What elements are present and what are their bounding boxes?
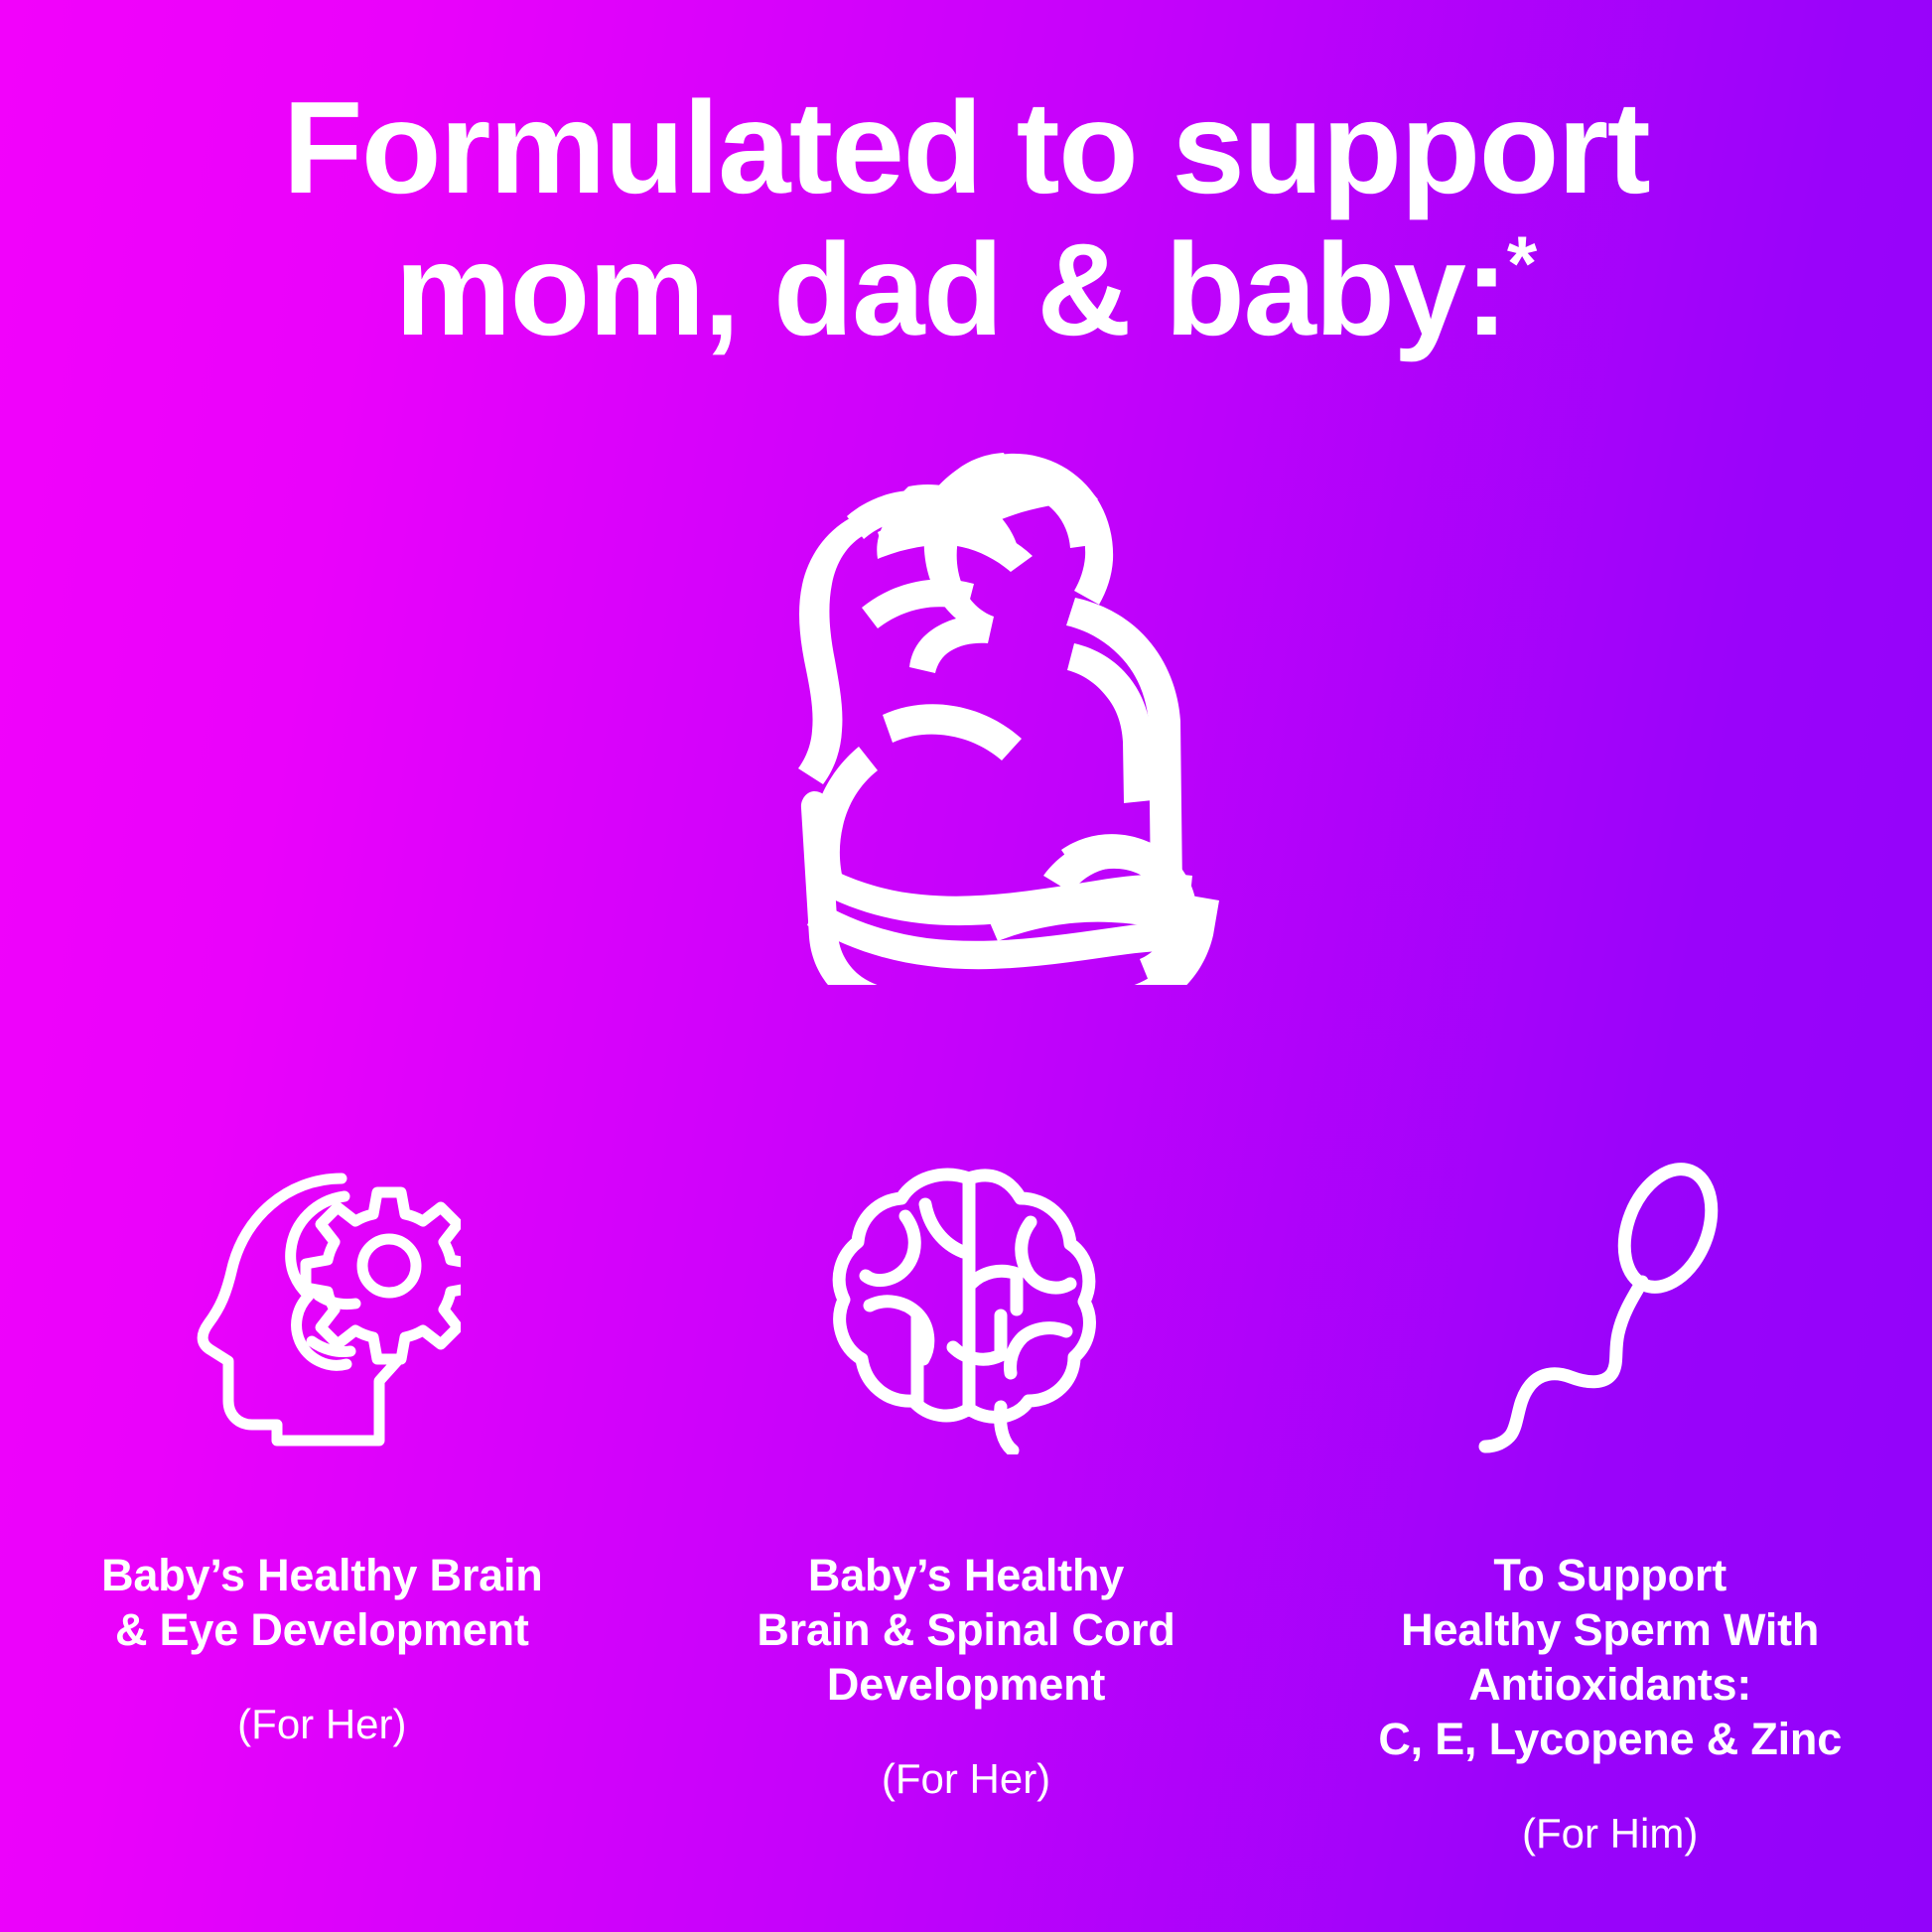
benefit-caption-2: Baby’s Healthy Brain & Spinal Cord Devel… [644,1549,1289,1859]
headline-line-1: Formulated to support [109,77,1823,219]
benefit-title-2-line-3: Development [668,1658,1265,1713]
headline-line-2: mom, dad & baby:* [109,219,1823,361]
benefit-audience-3: (For Him) [1311,1809,1908,1859]
benefit-icon-cell-2 [644,1142,1289,1469]
benefit-title-2-line-2: Brain & Spinal Cord [668,1603,1265,1658]
family-mom-dad-baby-icon [688,449,1244,985]
head-gear-icon [183,1157,461,1454]
benefit-title-2-line-1: Baby’s Healthy [668,1549,1265,1603]
headline-line-2-text: mom, dad & baby: [395,216,1507,362]
benefit-audience-1: (For Her) [24,1700,621,1749]
sperm-icon [1471,1157,1749,1454]
benefit-title-2: Baby’s Healthy Brain & Spinal Cord Devel… [668,1549,1265,1713]
benefit-title-3-line-2: Healthy Sperm With [1311,1603,1908,1658]
headline-asterisk: * [1507,219,1537,307]
benefit-caption-row: Baby’s Healthy Brain & Eye Development (… [0,1549,1932,1859]
benefit-title-3-line-3: Antioxidants: [1311,1658,1908,1713]
benefit-caption-1: Baby’s Healthy Brain & Eye Development (… [0,1549,644,1859]
page-title: Formulated to support mom, dad & baby:* [0,77,1932,360]
benefit-title-3-line-1: To Support [1311,1549,1908,1603]
benefit-title-3: To Support Healthy Sperm With Antioxidan… [1311,1549,1908,1767]
benefit-title-1-line-1: Baby’s Healthy Brain [24,1549,621,1603]
benefit-icon-row [0,1142,1932,1469]
benefit-title-1: Baby’s Healthy Brain & Eye Development [24,1549,621,1658]
benefit-audience-2: (For Her) [668,1754,1265,1804]
promo-poster: Formulated to support mom, dad & baby:* [0,0,1932,1932]
benefit-title-1-line-2: & Eye Development [24,1603,621,1658]
benefit-title-3-line-4: C, E, Lycopene & Zinc [1311,1713,1908,1767]
brain-icon [822,1157,1110,1454]
benefit-icon-cell-3 [1288,1142,1932,1469]
benefit-icon-cell-1 [0,1142,644,1469]
benefit-caption-3: To Support Healthy Sperm With Antioxidan… [1288,1549,1932,1859]
